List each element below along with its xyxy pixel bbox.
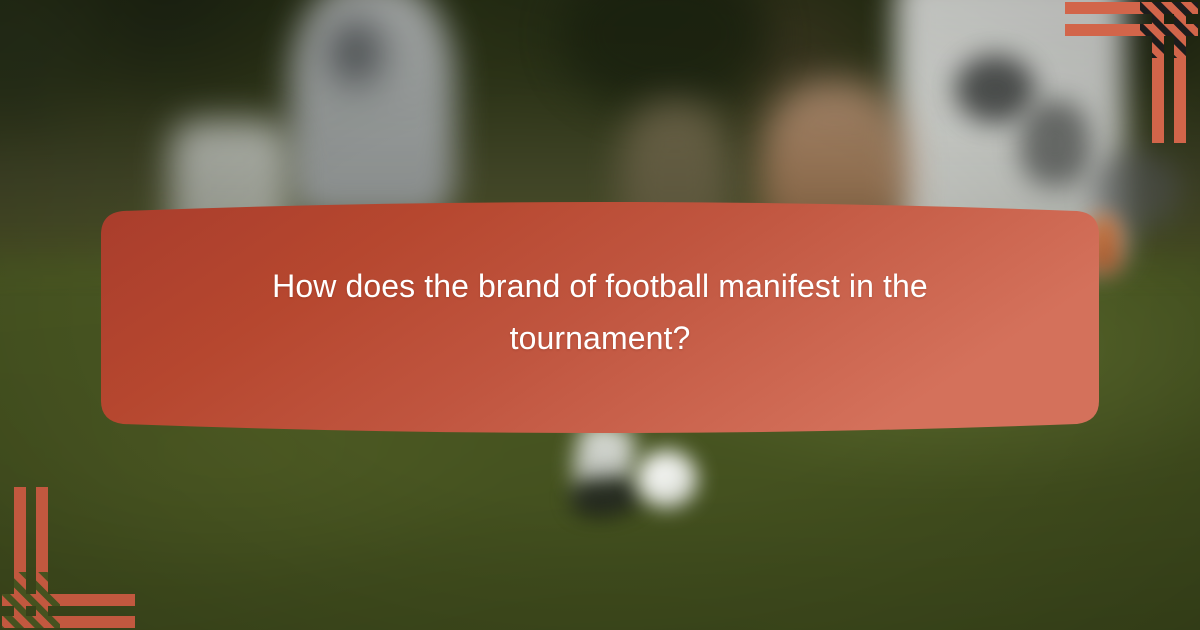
question-text-container: How does the brand of football manifest … bbox=[101, 196, 1099, 436]
question-text: How does the brand of football manifest … bbox=[230, 261, 970, 365]
poster-canvas: How does the brand of football manifest … bbox=[0, 0, 1200, 630]
question-card: How does the brand of football manifest … bbox=[101, 196, 1099, 436]
